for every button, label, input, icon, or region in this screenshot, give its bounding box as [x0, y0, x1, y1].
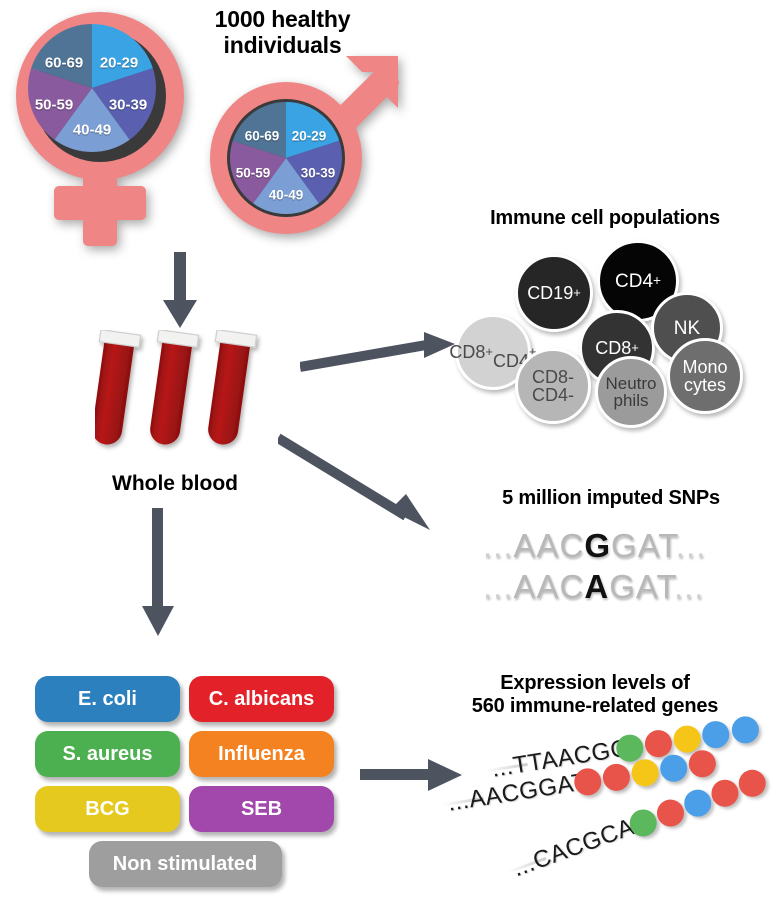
- immune-cell-cd19: CD19+: [515, 254, 593, 332]
- expression-bead: [680, 786, 715, 821]
- stimulation-row: Non stimulated: [35, 841, 335, 887]
- expression-bead: [735, 766, 770, 801]
- stimulation-influenza[interactable]: Influenza: [189, 731, 334, 777]
- expression-bead: [687, 748, 718, 779]
- stimulation-c-albicans[interactable]: C. albicans: [189, 676, 334, 722]
- stimulation-row: BCG SEB: [35, 786, 335, 832]
- stimulation-non-stimulated[interactable]: Non stimulated: [89, 841, 282, 887]
- male-age-pie: 20-29 30-39 40-49 50-59 60-69: [228, 100, 344, 216]
- immune-populations-title: Immune cell populations: [440, 207, 770, 230]
- arrow-blood-to-stimulations: [140, 508, 176, 638]
- stimulation-row: S. aureus Influenza: [35, 731, 335, 777]
- expression-title: Expression levels of 560 immune-related …: [430, 672, 760, 718]
- snp-sequence-allele-g: ...AACGGAT...: [483, 527, 706, 565]
- immune-cell-cluster: CD19+ CD4+ CD8+CD4+ CD8+ NK CD8-CD4- Neu…: [455, 238, 771, 418]
- stimulation-e-coli[interactable]: E. coli: [35, 676, 180, 722]
- stimulation-row: E. coli C. albicans: [35, 676, 335, 722]
- figure-canvas: 1000 healthy individuals Immune cell pop…: [0, 0, 771, 922]
- gene-expression-strands: ...TTAACGG ...AACGGAT ...CACGCAA: [430, 725, 771, 915]
- stimulation-bcg[interactable]: BCG: [35, 786, 180, 832]
- expression-sequence-2: ...AACGGAT: [446, 768, 589, 818]
- stimulation-conditions: E. coli C. albicans S. aureus Influenza …: [35, 676, 335, 896]
- blood-tubes: [95, 330, 275, 465]
- immune-cell-monocytes: Monocytes: [667, 338, 743, 414]
- arrow-blood-to-snps: [278, 430, 448, 540]
- expression-bead: [653, 796, 688, 831]
- stimulation-seb[interactable]: SEB: [189, 786, 334, 832]
- female-age-pie: 20-29 30-39 40-49 50-59 60-69: [26, 22, 158, 154]
- whole-blood-label: Whole blood: [60, 472, 290, 496]
- expression-bead: [708, 776, 743, 811]
- immune-cell-cd8neg-cd4neg: CD8-CD4-: [515, 348, 591, 424]
- expression-bead: [630, 757, 661, 788]
- immune-cell-neutrophils: Neutrophils: [595, 356, 667, 428]
- snp-sequence-allele-a: ...AACAGAT...: [483, 568, 704, 606]
- stimulation-s-aureus[interactable]: S. aureus: [35, 731, 180, 777]
- expression-bead: [601, 762, 632, 793]
- arrow-cohort-to-blood: [160, 252, 200, 330]
- snps-title: 5 million imputed SNPs: [452, 487, 770, 510]
- arrow-blood-to-immune: [300, 322, 460, 374]
- expression-bead: [658, 753, 689, 784]
